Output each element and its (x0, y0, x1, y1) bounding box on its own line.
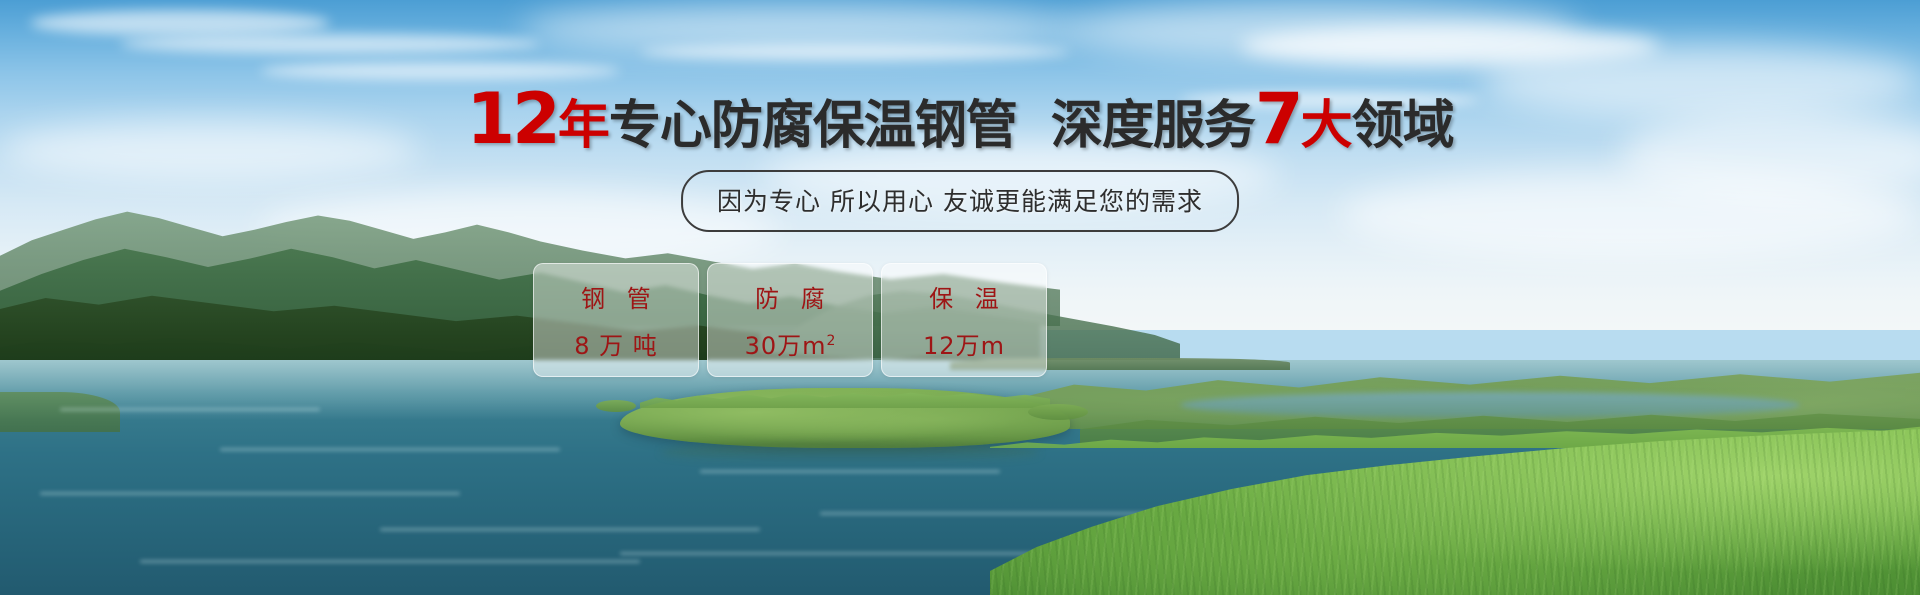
water-streak (380, 528, 760, 531)
stat-card-label: 保 温 (922, 279, 1006, 314)
stat-card-anticorrosion[interactable]: 防 腐 30万m2 (707, 263, 873, 377)
water-streak (60, 408, 320, 411)
stat-card-label: 钢 管 (574, 279, 658, 314)
stat-card-value-text: 30万m (745, 332, 827, 360)
stat-card-value-text: 8 万 吨 (574, 332, 658, 360)
marsh-water-gap (1180, 392, 1800, 418)
water-streak (220, 448, 560, 451)
stat-card-value: 30万m2 (745, 326, 836, 361)
subtitle-pill: 因为专心 所以用心 友诚更能满足您的需求 (681, 170, 1239, 232)
stat-card-steel-pipe[interactable]: 钢 管 8 万 吨 (533, 263, 699, 377)
water-streak (40, 492, 460, 495)
water-streak (700, 470, 1000, 473)
left-bank (0, 392, 120, 432)
small-islet (1028, 404, 1088, 420)
subtitle-text: 因为专心 所以用心 友诚更能满足您的需求 (717, 182, 1203, 218)
stat-card-group: 钢 管 8 万 吨 防 腐 30万m2 保 温 12万m (533, 263, 1047, 377)
stat-card-label: 防 腐 (748, 279, 832, 314)
stat-card-value: 8 万 吨 (574, 326, 658, 361)
water-streak (820, 512, 1160, 515)
stat-card-insulation[interactable]: 保 温 12万m (881, 263, 1047, 377)
water-streak (620, 552, 1040, 555)
hero-banner: 12年专心防腐保温钢管深度服务7大领域 因为专心 所以用心 友诚更能满足您的需求… (0, 0, 1920, 595)
water-streak (140, 560, 640, 563)
small-islet (596, 400, 636, 412)
grass-island-reflection (660, 442, 1040, 464)
stat-card-value-superscript: 2 (827, 333, 836, 349)
stat-card-value-text: 12万m (923, 332, 1005, 360)
stat-card-value: 12万m (923, 326, 1005, 361)
